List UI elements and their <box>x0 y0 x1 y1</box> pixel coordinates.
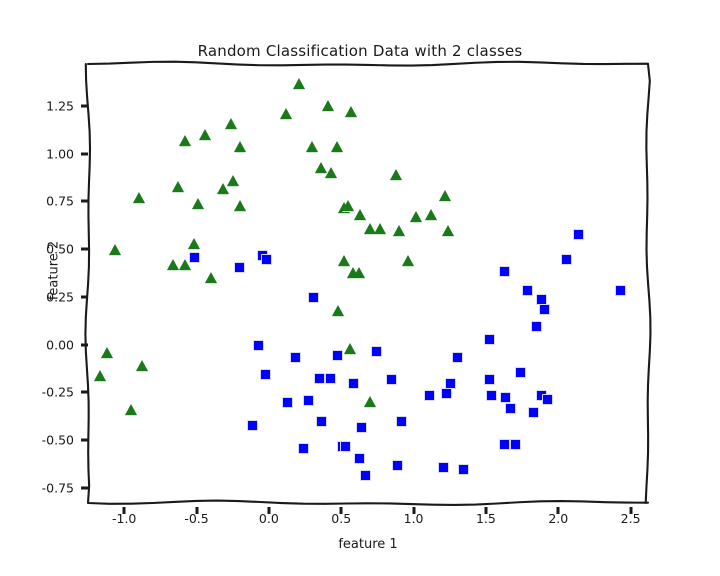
y-axis-ticks: -0.75-0.50-0.250.000.250.500.751.001.25 <box>0 64 74 503</box>
scatter-point-class-1 <box>340 441 351 452</box>
scatter-point-class-1 <box>510 439 521 450</box>
scatter-point-class-1 <box>486 390 497 401</box>
chart-figure: Random Classification Data with 2 classe… <box>0 0 720 576</box>
scatter-point-class-0 <box>188 238 200 249</box>
scatter-point-class-1 <box>438 462 449 473</box>
scatter-point-class-0 <box>344 343 356 354</box>
scatter-point-class-1 <box>528 407 539 418</box>
y-tick-label: 0.25 <box>46 289 74 304</box>
scatter-point-class-0 <box>354 209 366 220</box>
scatter-point-class-1 <box>371 346 382 357</box>
scatter-point-class-0 <box>442 225 454 236</box>
scatter-point-class-1 <box>261 254 272 265</box>
scatter-point-class-1 <box>247 420 258 431</box>
scatter-point-class-0 <box>345 106 357 117</box>
scatter-point-class-0 <box>322 100 334 111</box>
scatter-point-class-1 <box>392 460 403 471</box>
scatter-point-class-0 <box>136 360 148 371</box>
scatter-point-class-0 <box>101 347 113 358</box>
scatter-point-class-0 <box>205 272 217 283</box>
scatter-point-class-0 <box>234 200 246 211</box>
scatter-point-class-1 <box>396 416 407 427</box>
scatter-point-class-1 <box>499 266 510 277</box>
scatter-point-class-1 <box>360 470 371 481</box>
scatter-point-class-0 <box>225 118 237 129</box>
scatter-point-class-0 <box>331 141 343 152</box>
y-tick-label: -0.50 <box>42 433 74 448</box>
scatter-point-class-0 <box>425 209 437 220</box>
scatter-point-class-1 <box>424 390 435 401</box>
scatter-point-class-0 <box>402 255 414 266</box>
scatter-point-class-1 <box>356 422 367 433</box>
scatter-point-class-1 <box>561 254 572 265</box>
scatter-point-class-1 <box>314 373 325 384</box>
scatter-point-class-1 <box>539 304 550 315</box>
y-tick-label: 0.00 <box>46 337 74 352</box>
scatter-point-class-1 <box>484 334 495 345</box>
scatter-point-class-1 <box>308 292 319 303</box>
scatter-point-class-0 <box>217 183 229 194</box>
scatter-point-class-1 <box>253 340 264 351</box>
y-tick-label: -0.75 <box>42 480 74 495</box>
scatter-point-class-0 <box>179 135 191 146</box>
scatter-point-class-0 <box>325 167 337 178</box>
scatter-point-class-1 <box>499 439 510 450</box>
scatter-point-class-1 <box>354 453 365 464</box>
scatter-point-class-0 <box>338 255 350 266</box>
scatter-point-class-1 <box>325 373 336 384</box>
y-tick-label: -0.25 <box>42 385 74 400</box>
y-tick-label: 0.75 <box>46 194 74 209</box>
scatter-point-class-1 <box>316 416 327 427</box>
scatter-point-class-1 <box>441 388 452 399</box>
x-axis-label: feature 1 <box>88 537 648 552</box>
scatter-point-class-0 <box>280 108 292 119</box>
scatter-point-class-1 <box>515 367 526 378</box>
scatter-point-class-1 <box>484 374 495 385</box>
scatter-point-class-0 <box>332 305 344 316</box>
scatter-point-class-0 <box>192 198 204 209</box>
y-tick-label: 1.25 <box>46 98 74 113</box>
scatter-point-class-1 <box>452 352 463 363</box>
scatter-point-class-0 <box>167 259 179 270</box>
scatter-point-class-0 <box>125 404 137 415</box>
scatter-point-class-0 <box>234 141 246 152</box>
scatter-point-class-0 <box>342 200 354 211</box>
scatter-point-class-1 <box>348 378 359 389</box>
scatter-point-class-1 <box>332 350 343 361</box>
scatter-point-class-0 <box>199 129 211 140</box>
scatter-point-class-0 <box>94 370 106 381</box>
scatter-point-class-1 <box>282 397 293 408</box>
scatter-point-class-0 <box>393 225 405 236</box>
scatter-point-class-1 <box>500 392 511 403</box>
scatter-point-class-1 <box>290 352 301 363</box>
scatter-point-class-0 <box>364 396 376 407</box>
scatter-point-class-0 <box>410 211 422 222</box>
scatter-point-class-0 <box>439 190 451 201</box>
scatter-point-class-1 <box>542 394 553 405</box>
scatter-point-class-1 <box>573 229 584 240</box>
y-tick-label: 0.50 <box>46 242 74 257</box>
scatter-point-class-1 <box>531 321 542 332</box>
scatter-point-class-1 <box>234 262 245 273</box>
scatter-point-class-0 <box>390 169 402 180</box>
scatter-point-class-1 <box>458 464 469 475</box>
scatter-point-class-0 <box>353 267 365 278</box>
y-tick-label: 1.00 <box>46 146 74 161</box>
scatter-point-class-1 <box>260 369 271 380</box>
scatter-point-class-0 <box>306 141 318 152</box>
scatter-point-class-0 <box>293 78 305 89</box>
scatter-point-class-0 <box>172 181 184 192</box>
scatter-point-class-0 <box>133 192 145 203</box>
scatter-point-class-1 <box>505 403 516 414</box>
scatter-point-class-1 <box>386 374 397 385</box>
scatter-point-class-1 <box>189 252 200 263</box>
plot-area <box>88 64 648 503</box>
axes-frame <box>74 54 674 524</box>
scatter-point-class-1 <box>298 443 309 454</box>
scatter-point-class-1 <box>615 285 626 296</box>
scatter-point-class-1 <box>303 395 314 406</box>
scatter-point-class-0 <box>374 223 386 234</box>
scatter-point-class-1 <box>522 285 533 296</box>
scatter-point-class-0 <box>109 244 121 255</box>
